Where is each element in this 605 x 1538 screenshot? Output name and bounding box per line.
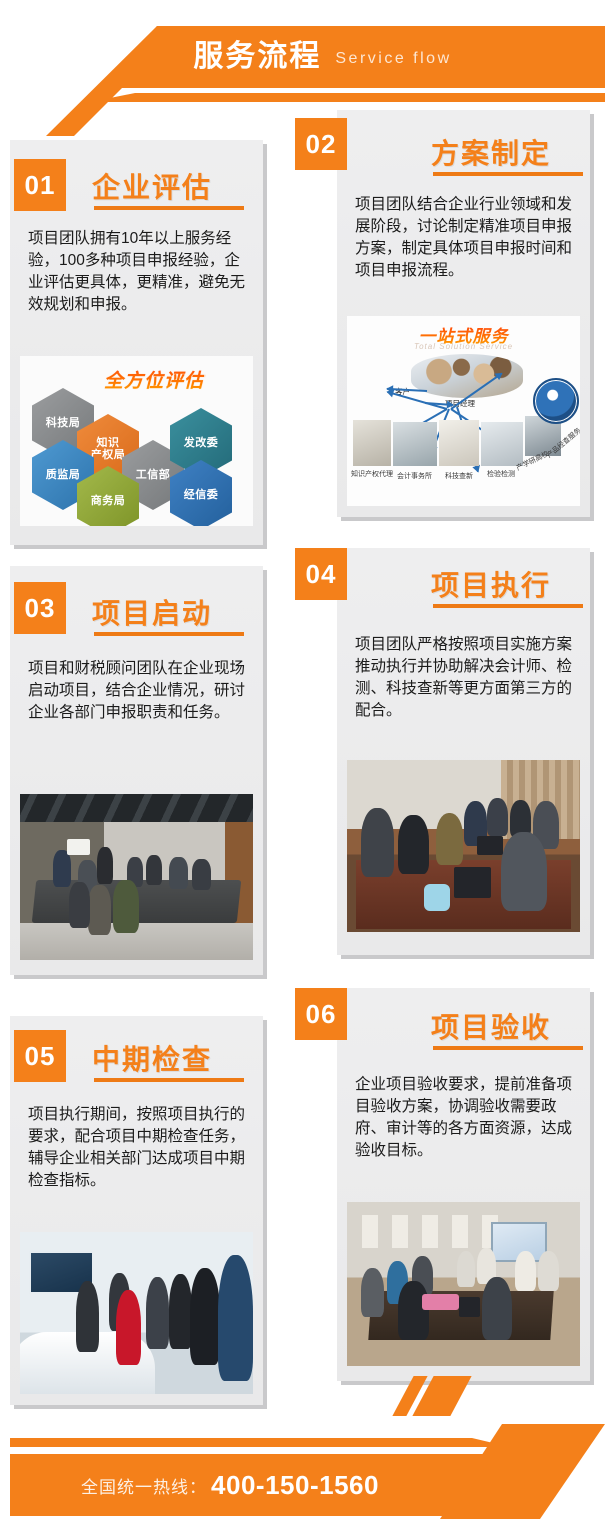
person: [538, 1251, 559, 1290]
person: [76, 1281, 99, 1352]
hex-label: 商务局: [91, 495, 126, 507]
step-number-badge: 05: [14, 1030, 66, 1082]
card-description: 企业项目验收要求，提前准备项目验收方案，协调验收需要政府、审计等的各方面资源，达…: [355, 1074, 573, 1162]
diagram-caption: 全方位评估: [104, 366, 204, 393]
card-description: 项目团队严格按照项目实施方案推动执行并协助解决会计师、检测、科技查新等更方面第三…: [355, 634, 573, 722]
card-title: 企业评估: [92, 166, 212, 206]
title-underline: [94, 206, 244, 210]
service-flow-infographic: 服务流程 Service flow 01 企业评估 项目团队拥有10年以上服务经…: [0, 0, 605, 1538]
photo-content: [20, 1232, 253, 1394]
card-title: 项目执行: [431, 564, 551, 604]
step-card-03[interactable]: 03 项目启动 项目和财税顾问团队在企业现场启动项目，结合企业情况，研讨企业各部…: [10, 566, 268, 980]
card-title: 中期检查: [92, 1038, 212, 1078]
hotline-number[interactable]: 400-150-1560: [211, 1470, 379, 1501]
hex-label: 知识 产权局: [91, 437, 126, 462]
thumb-accounting-firm: [393, 422, 437, 466]
person: [169, 1274, 192, 1349]
photo-acceptance-meeting: [347, 1202, 580, 1366]
person: [436, 813, 464, 865]
hex-label: 科技局: [46, 417, 81, 429]
hex-label: 质监局: [46, 469, 81, 481]
title-underline: [433, 172, 583, 176]
person: [146, 1277, 169, 1348]
person: [169, 857, 188, 889]
card-title: 项目验收: [431, 1006, 551, 1046]
person: [457, 1251, 476, 1287]
person-foreground: [398, 1281, 428, 1340]
person-foreground: [113, 880, 139, 933]
header-title-group: 服务流程 Service flow: [0, 26, 605, 88]
bag: [424, 884, 450, 912]
title-underline: [433, 604, 583, 608]
step-card-05[interactable]: 05 中期检查 项目执行期间，按照项目执行的要求，配合项目中期检查任务，辅导企业…: [10, 1016, 268, 1410]
person: [487, 798, 508, 836]
card-description: 项目执行期间，按照项目执行的要求，配合项目中期检查任务，辅导企业相关部门达成项目…: [28, 1104, 246, 1192]
step-number-badge: 06: [295, 988, 347, 1040]
team-photo-bubble: [411, 354, 523, 398]
hotline-label: 全国统一热线：: [81, 1473, 207, 1498]
person: [361, 1268, 384, 1317]
title-underline: [94, 1078, 244, 1082]
hex-label: 工信部: [136, 469, 171, 481]
hex-label: 经信委: [184, 489, 219, 501]
diagram-caption-en: Total Solution Service: [347, 342, 580, 351]
step-card-04[interactable]: 04 项目执行 项目团队严格按照项目实施方案推动执行并协助解决会计师、检测、科技…: [295, 548, 595, 960]
hotline-group: 全国统一热线： 400-150-1560: [10, 1454, 450, 1516]
photo-working-meeting: [347, 760, 580, 932]
service-label-accounting: 会计事务所: [397, 471, 432, 481]
step-card-06[interactable]: 06 项目验收 企业项目验收要求，提前准备项目验收方案，协调验收需要政府、审计等…: [295, 988, 595, 1386]
step-number-badge: 01: [14, 159, 66, 211]
page-title: 服务流程: [193, 42, 321, 72]
photo-content: [347, 1202, 580, 1366]
card-title: 项目启动: [92, 592, 212, 632]
one-stop-service-diagram: 一站式服务 Total Solution Service 客户 项目经理 知识产…: [347, 316, 580, 506]
person-foreground: [88, 885, 111, 935]
thumb-ip-agency: [353, 420, 391, 466]
hex-label: 发改委: [184, 437, 219, 449]
hexagon-assessment-diagram: 全方位评估 科技局 知识 产权局 质监局 工信部 商务局 发改委 经信委: [20, 356, 253, 526]
card-description: 项目团队结合企业行业领域和发展阶段，讨论制定精准项目申报方案，制定具体项目申报时…: [355, 194, 573, 282]
ceiling-pattern: [20, 794, 253, 822]
card-description: 项目团队拥有10年以上服务经验，100多种项目申报经验，企业评估更具体，更精准，…: [28, 228, 246, 316]
person-red-coat: [116, 1290, 142, 1365]
title-underline: [433, 1046, 583, 1050]
title-underline: [94, 632, 244, 636]
person-foreground: [69, 882, 90, 928]
thumb-tech-search: [439, 420, 479, 466]
person-foreground: [501, 832, 548, 911]
certification-seal-icon: [533, 378, 579, 424]
photo-content: [347, 760, 580, 932]
step-card-01[interactable]: 01 企业评估 项目团队拥有10年以上服务经验，100多种项目申报经验，企业评估…: [10, 140, 268, 550]
step-number-badge: 04: [295, 548, 347, 600]
service-label-inspection: 检验检测: [487, 469, 515, 479]
page-footer: 全国统一热线： 400-150-1560: [0, 1408, 605, 1538]
person: [361, 808, 394, 877]
thumb-inspection: [481, 422, 523, 466]
person: [192, 859, 211, 891]
person: [53, 850, 72, 887]
page-title-en: Service flow: [335, 51, 451, 67]
laptop: [459, 1297, 480, 1317]
photo-conference-room: [20, 794, 253, 960]
card-title: 方案制定: [431, 132, 551, 172]
service-label-ip: 知识产权代理: [351, 469, 393, 479]
person-foreground: [218, 1255, 253, 1381]
person-foreground: [190, 1268, 220, 1365]
person: [97, 847, 113, 884]
service-label-tech-search: 科技查新: [445, 471, 473, 481]
person: [515, 1251, 536, 1290]
laptop: [477, 836, 503, 855]
laptop: [454, 867, 491, 898]
card-description: 项目和财税顾问团队在企业现场启动项目，结合企业情况，研讨企业各部门申报职责和任务…: [28, 658, 246, 724]
person: [398, 815, 428, 873]
step-number-badge: 03: [14, 582, 66, 634]
person: [146, 855, 162, 885]
photo-content: [20, 794, 253, 960]
wall-certificates: [356, 1215, 500, 1248]
photo-showroom-visit: [20, 1232, 253, 1394]
gift-boxes: [422, 1294, 459, 1310]
person-foreground: [482, 1277, 512, 1339]
step-card-02[interactable]: 02 方案制定 项目团队结合企业行业领域和发展阶段，讨论制定精准项目申报方案，制…: [295, 110, 595, 522]
step-number-badge: 02: [295, 118, 347, 170]
whiteboard: [67, 839, 90, 856]
